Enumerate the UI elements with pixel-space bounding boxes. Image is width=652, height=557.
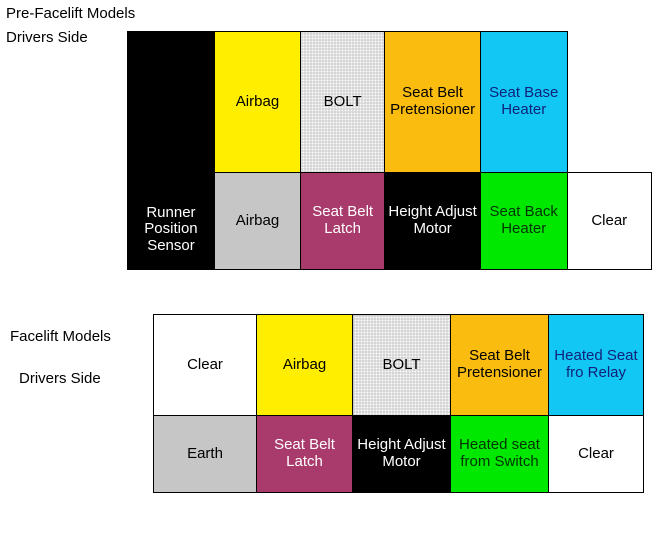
- fuse-cell-seat-back-heater[interactable]: Seat Back Heater: [480, 173, 567, 270]
- fuse-cell-clear-facelift-bottom[interactable]: Clear: [549, 416, 644, 493]
- fuse-row-top: Clear Airbag BOLT Seat Belt Pretensioner…: [154, 315, 644, 416]
- fuse-cell-seat-belt-pretensioner-facelift[interactable]: Seat Belt Pretensioner: [451, 315, 549, 416]
- fuse-diagram-facelift: Clear Airbag BOLT Seat Belt Pretensioner…: [153, 314, 644, 493]
- fuse-cell-height-adjust-motor[interactable]: Height Adjust Motor: [385, 173, 481, 270]
- fuse-row-bottom: Earth Seat Belt Latch Height Adjust Moto…: [154, 416, 644, 493]
- fuse-cell-earth[interactable]: Earth: [154, 416, 257, 493]
- fuse-cell-bolt[interactable]: BOLT: [301, 32, 385, 173]
- fuse-cell-airbag-facelift[interactable]: Airbag: [257, 315, 353, 416]
- pre-facelift-title-line2: Drivers Side: [6, 30, 88, 45]
- fuse-cell-seat-belt-latch[interactable]: Seat Belt Latch: [301, 173, 385, 270]
- fuse-cell-runner-position-sensor[interactable]: Runner Position Sensor: [128, 32, 215, 270]
- pre-facelift-title-line1: Pre-Facelift Models: [6, 6, 135, 21]
- fuse-cell-height-adjust-motor-facelift[interactable]: Height Adjust Motor: [353, 416, 451, 493]
- fuse-cell-seat-belt-latch-facelift[interactable]: Seat Belt Latch: [257, 416, 353, 493]
- fuse-cell-bolt-facelift[interactable]: BOLT: [353, 315, 451, 416]
- facelift-title-line2: Drivers Side: [19, 371, 101, 386]
- fuse-cell-clear-facelift-top[interactable]: Clear: [154, 315, 257, 416]
- fuse-row-top: Runner Position Sensor Airbag BOLT Seat …: [128, 32, 652, 173]
- fuse-cell-airbag-bottom[interactable]: Airbag: [214, 173, 300, 270]
- fuse-diagram-pre-facelift: Runner Position Sensor Airbag BOLT Seat …: [127, 31, 652, 270]
- facelift-title-line1: Facelift Models: [10, 329, 111, 344]
- fuse-cell-seat-base-heater[interactable]: Seat Base Heater: [480, 32, 567, 173]
- fuse-cell-airbag-top[interactable]: Airbag: [214, 32, 300, 173]
- fuse-cell-heated-seat-from-relay[interactable]: Heated Seat fro Relay: [549, 315, 644, 416]
- fuse-cell-clear-pre-facelift[interactable]: Clear: [567, 173, 651, 270]
- fuse-cell-heated-seat-from-switch[interactable]: Heated seat from Switch: [451, 416, 549, 493]
- fuse-cell-seat-belt-pretensioner[interactable]: Seat Belt Pretensioner: [385, 32, 481, 173]
